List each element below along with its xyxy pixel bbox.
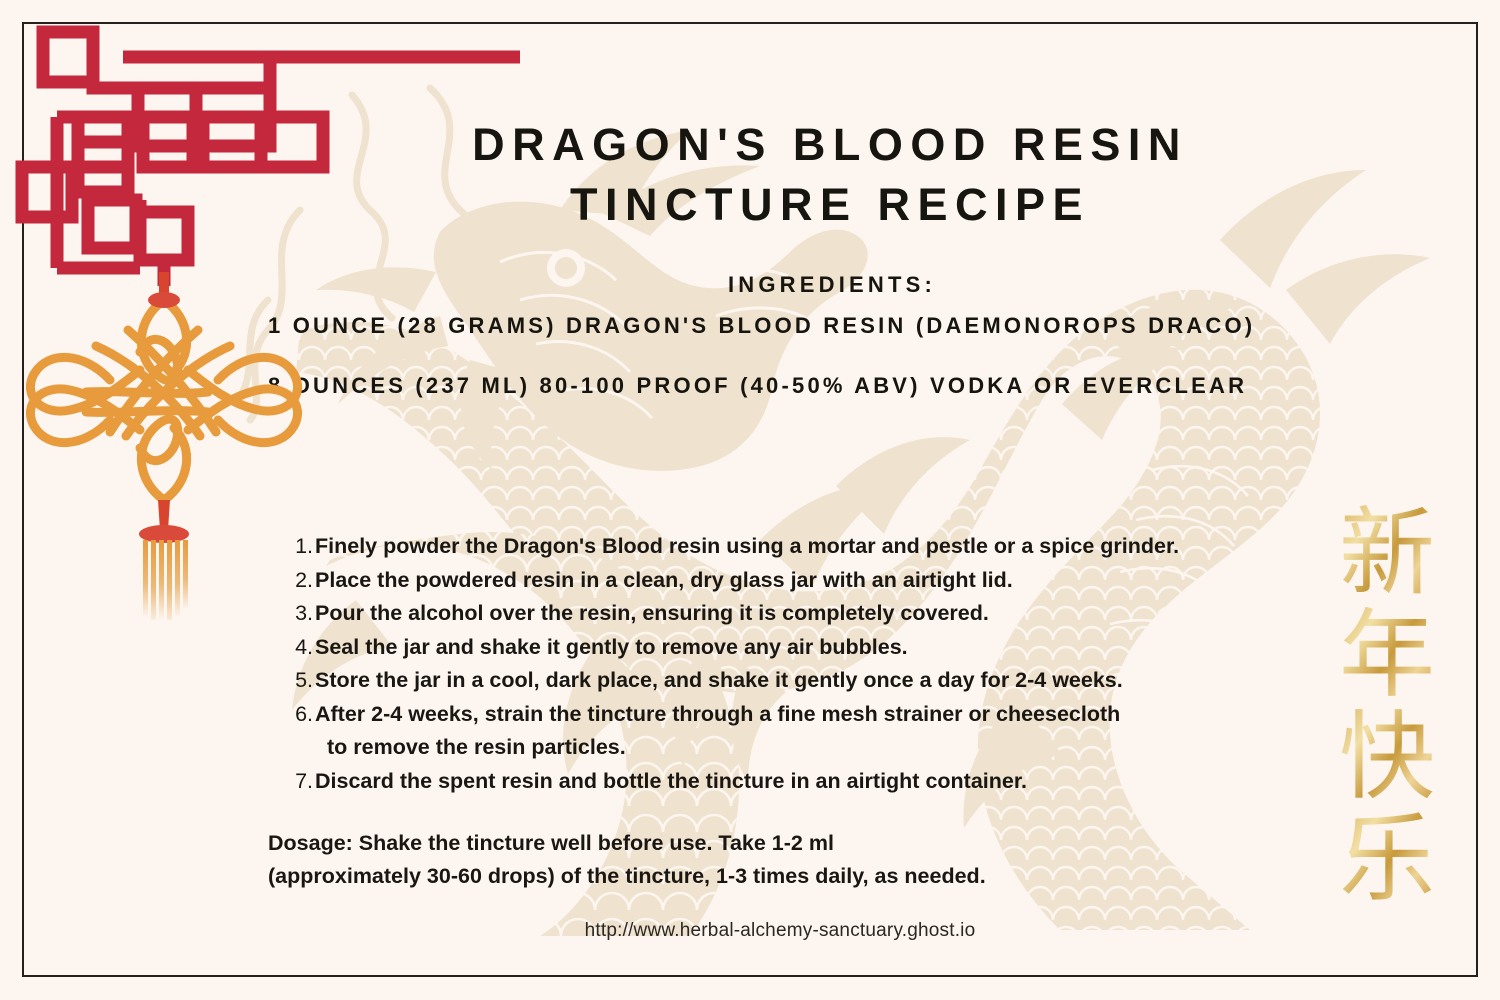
step-text: Seal the jar and shake it gently to remo… <box>315 631 908 665</box>
step-number: 3. <box>285 597 313 631</box>
ingredients-heading: Ingredients: <box>268 272 1418 298</box>
step-number: 4. <box>285 631 313 665</box>
step-text: Discard the spent resin and bottle the t… <box>315 765 1027 799</box>
recipe-content: Dragon's Blood Resin Tincture Recipe Ing… <box>0 0 1500 1000</box>
new-year-calligraphy: 新 年 快 乐 <box>1322 505 1452 909</box>
dosage-section: Dosage: Shake the tincture well before u… <box>268 827 1168 893</box>
dosage-line-2: (approximately 30-60 drops) of the tinct… <box>268 860 1168 893</box>
step-item: 2. Place the powdered resin in a clean, … <box>285 564 1295 598</box>
calligraphy-glyph-xin: 新 <box>1339 505 1435 603</box>
step-text: Finely powder the Dragon's Blood resin u… <box>315 530 1179 564</box>
step-text: Pour the alcohol over the resin, ensurin… <box>315 597 989 631</box>
step-item: 1. Finely powder the Dragon's Blood resi… <box>285 530 1295 564</box>
step-text: Place the powdered resin in a clean, dry… <box>315 564 1013 598</box>
calligraphy-glyph-kuai: 快 <box>1339 709 1435 807</box>
step-number: 5. <box>285 664 313 698</box>
step-item: 6. After 2-4 weeks, strain the tincture … <box>285 698 1295 732</box>
step-item-continuation: to remove the resin particles. <box>285 731 1295 765</box>
step-number: 2. <box>285 564 313 598</box>
website-url: http://www.herbal-alchemy-sanctuary.ghos… <box>330 920 1230 942</box>
ingredients-section: Ingredients: 1 ounce (28 grams) Dragon's… <box>268 272 1418 402</box>
instruction-steps: 1. Finely powder the Dragon's Blood resi… <box>285 530 1295 798</box>
page-title: Dragon's Blood Resin Tincture Recipe <box>330 115 1330 235</box>
step-number: 1. <box>285 530 313 564</box>
step-item: 3. Pour the alcohol over the resin, ensu… <box>285 597 1295 631</box>
step-text: After 2-4 weeks, strain the tincture thr… <box>315 698 1120 732</box>
spacer <box>268 342 1418 370</box>
step-text: Store the jar in a cool, dark place, and… <box>315 664 1123 698</box>
calligraphy-glyph-nian: 年 <box>1339 607 1435 705</box>
calligraphy-glyph-le: 乐 <box>1339 811 1435 909</box>
dosage-line-1: Dosage: Shake the tincture well before u… <box>268 827 1168 860</box>
ingredient-item-2: 8 ounces (237 ml) 80-100 proof (40-50% A… <box>268 370 1418 402</box>
ingredient-item-1: 1 ounce (28 grams) Dragon's Blood resin … <box>268 310 1418 342</box>
step-number: 6. <box>285 698 313 732</box>
step-continuation-text: to remove the resin particles. <box>315 731 626 765</box>
step-item: 5. Store the jar in a cool, dark place, … <box>285 664 1295 698</box>
step-item: 4. Seal the jar and shake it gently to r… <box>285 631 1295 665</box>
step-number: 7. <box>285 765 313 799</box>
step-item: 7. Discard the spent resin and bottle th… <box>285 765 1295 799</box>
